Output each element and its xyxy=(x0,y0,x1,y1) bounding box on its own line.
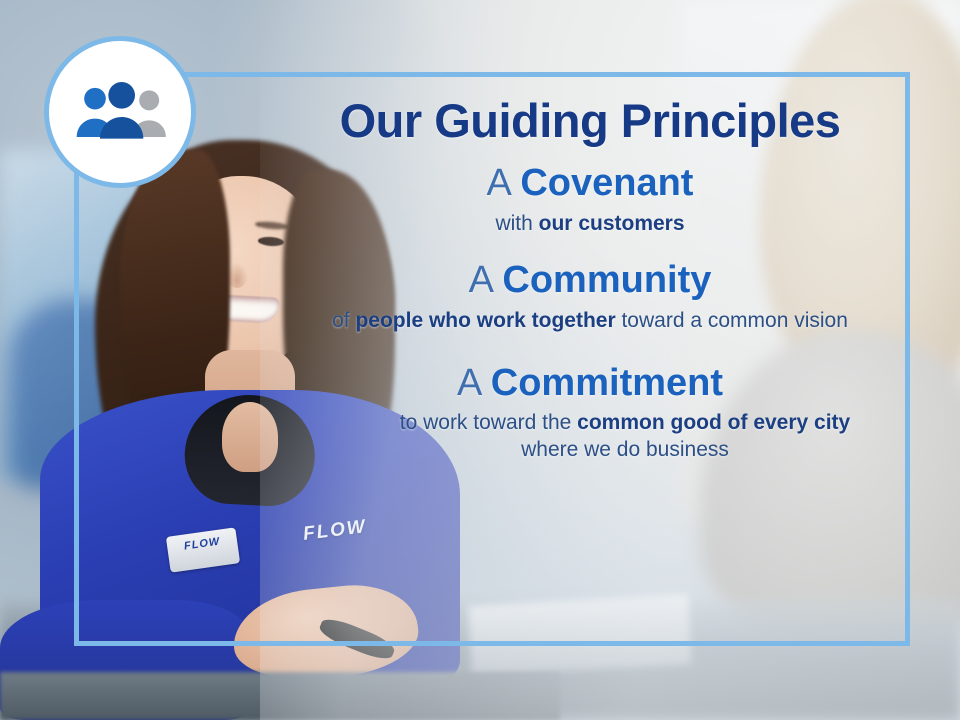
principle-community-sub-bold: people who work together xyxy=(355,309,615,332)
principle-commitment-title: A Commitment xyxy=(300,363,880,405)
principle-covenant-title: A Covenant xyxy=(300,163,880,205)
people-icon-badge xyxy=(44,36,196,188)
principle-commitment: A Commitment to work toward the common g… xyxy=(300,363,880,465)
promo-graphic: FLOW FLOW Our Guiding Principles A Coven… xyxy=(0,0,960,720)
principle-community-subtitle: of people who work together toward a com… xyxy=(300,308,880,335)
principle-community-keyword: Community xyxy=(502,259,711,301)
principle-community: A Community of people who work together … xyxy=(300,260,880,335)
principle-covenant: A Covenant with our customers xyxy=(300,163,880,238)
principle-covenant-subtitle: with our customers xyxy=(300,211,880,238)
principle-commitment-sub-lead: to work toward the xyxy=(400,411,577,434)
principle-commitment-sub-tail: where we do business xyxy=(521,438,729,461)
principle-community-sub-tail: toward a common vision xyxy=(616,309,848,332)
principles-text-block: Our Guiding Principles A Covenant with o… xyxy=(300,96,880,474)
principle-commitment-article: A xyxy=(457,362,491,404)
principle-commitment-subtitle: to work toward the common good of every … xyxy=(300,410,880,464)
principle-covenant-sub-bold: our customers xyxy=(539,212,685,235)
principle-community-sub-lead: of xyxy=(332,309,355,332)
principle-commitment-keyword: Commitment xyxy=(491,362,723,404)
principle-covenant-article: A xyxy=(487,162,521,204)
principle-covenant-sub-lead: with xyxy=(495,212,538,235)
page-title: Our Guiding Principles xyxy=(300,96,880,145)
people-group-icon xyxy=(70,78,170,146)
principle-community-title: A Community xyxy=(300,260,880,302)
principle-community-article: A xyxy=(469,259,503,301)
principle-covenant-keyword: Covenant xyxy=(520,162,693,204)
principle-commitment-sub-bold: common good of every city xyxy=(577,411,850,434)
